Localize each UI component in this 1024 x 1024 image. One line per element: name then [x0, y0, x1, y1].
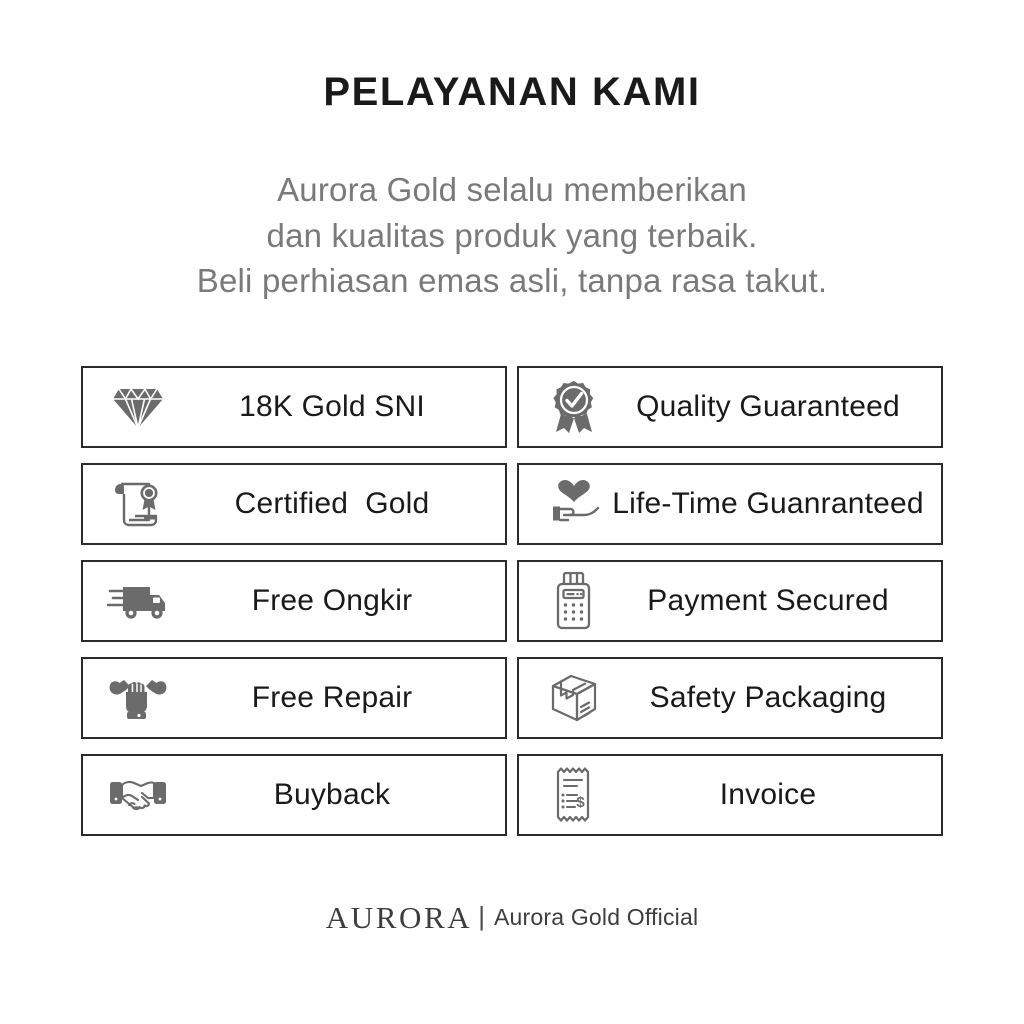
service-card-invoice[interactable]: $ Invoice: [517, 754, 943, 836]
service-label: Free Repair: [175, 681, 499, 715]
service-label: Buyback: [175, 778, 499, 812]
subtitle-line-2: dan kualitas produk yang terbaik.: [197, 213, 827, 259]
service-label: Quality Guaranteed: [611, 390, 935, 424]
service-label: 18K Gold SNI: [175, 390, 499, 424]
service-card-18k-gold-sni[interactable]: 18K Gold SNI: [81, 366, 507, 448]
heart-in-hand-icon: [537, 472, 611, 536]
services-grid: 18K Gold SNI Quality Guaranteed: [81, 366, 943, 836]
page-title: PELAYANAN KAMI: [323, 72, 700, 112]
service-label: Life-Time Guanranteed: [611, 487, 935, 521]
service-card-quality-guaranteed[interactable]: Quality Guaranteed: [517, 366, 943, 448]
service-card-life-time-guaranteed[interactable]: Life-Time Guanranteed: [517, 463, 943, 545]
card-reader-icon: [537, 569, 611, 633]
service-card-certified-gold[interactable]: Certified Gold: [81, 463, 507, 545]
brand-separator: |: [478, 903, 485, 929]
subtitle-block: Aurora Gold selalu memberikan dan kualit…: [197, 167, 827, 304]
service-card-free-repair[interactable]: Free Repair: [81, 657, 507, 739]
award-badge-icon: [537, 375, 611, 439]
diamond-icon: [101, 375, 175, 439]
service-label: Safety Packaging: [611, 681, 935, 715]
delivery-truck-icon: [101, 569, 175, 633]
services-infographic: PELAYANAN KAMI Aurora Gold selalu member…: [0, 0, 1024, 1024]
footer-branding: AURORA | Aurora Gold Official: [326, 902, 699, 933]
aurora-logo-text: AURORA: [326, 902, 473, 933]
subtitle-line-3: Beli perhiasan emas asli, tanpa rasa tak…: [197, 258, 827, 304]
subtitle-line-1: Aurora Gold selalu memberikan: [197, 167, 827, 213]
service-label: Certified Gold: [175, 487, 499, 521]
handshake-icon: [101, 763, 175, 827]
certificate-scroll-icon: [101, 472, 175, 536]
brand-tagline: Aurora Gold Official: [494, 906, 698, 929]
service-label: Payment Secured: [611, 584, 935, 618]
hand-wrench-icon: [101, 666, 175, 730]
service-card-buyback[interactable]: Buyback: [81, 754, 507, 836]
service-card-safety-packaging[interactable]: Safety Packaging: [517, 657, 943, 739]
package-box-icon: [537, 666, 611, 730]
service-label: Free Ongkir: [175, 584, 499, 618]
service-card-free-ongkir[interactable]: Free Ongkir: [81, 560, 507, 642]
service-label: Invoice: [611, 778, 935, 812]
receipt-icon: $: [537, 763, 611, 827]
svg-text:$: $: [576, 794, 585, 811]
service-card-payment-secured[interactable]: Payment Secured: [517, 560, 943, 642]
